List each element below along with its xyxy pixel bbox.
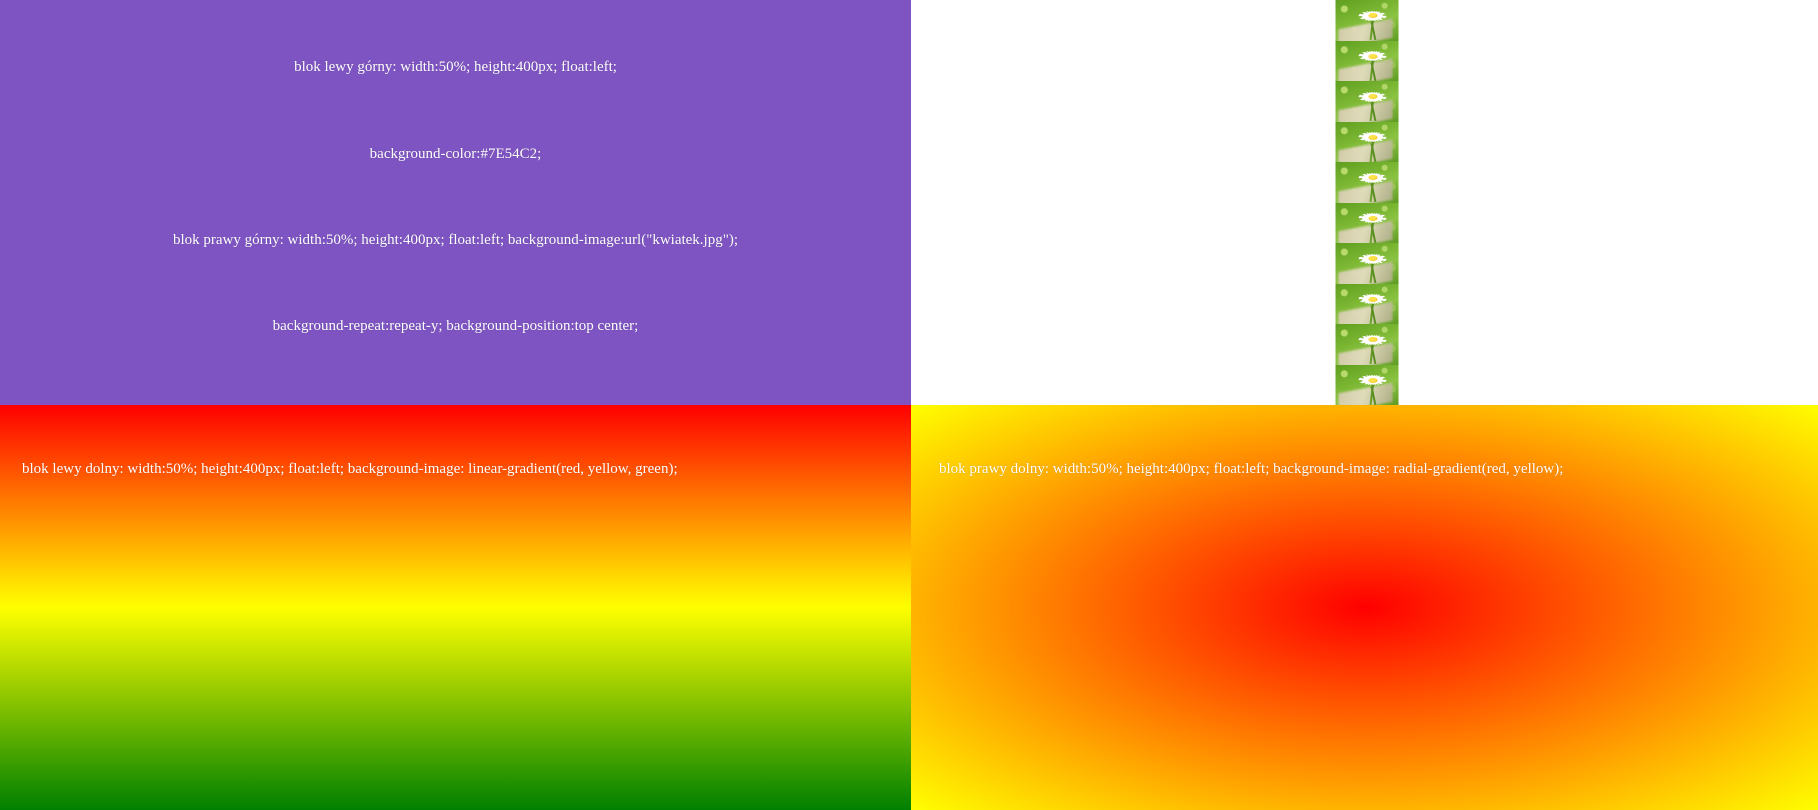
blok-prawy-gorny-line-1: blok prawy górny: width:50%; height:400p…: [0, 231, 911, 249]
flower-icon: [1335, 203, 1398, 244]
flower-icon: [1335, 365, 1398, 406]
blok-lewy-gorny-line-2: background-color:#7E54C2;: [0, 145, 911, 163]
blok-prawy-gorny: [911, 0, 1818, 405]
daisy-center: [1368, 135, 1377, 140]
daisy-head: [1358, 252, 1388, 266]
blok-prawy-dolny: blok prawy dolny: width:50%; height:400p…: [911, 405, 1818, 810]
daisy-head: [1358, 90, 1388, 104]
daisy-head: [1358, 211, 1388, 225]
flower-icon: [1335, 122, 1398, 163]
daisy-center: [1368, 54, 1377, 59]
daisy-head: [1358, 171, 1388, 185]
daisy-center: [1368, 216, 1377, 221]
flower-icon: [1335, 162, 1398, 203]
daisy-head: [1358, 49, 1388, 63]
flower-icon: [1335, 81, 1398, 122]
daisy-head: [1358, 333, 1388, 347]
blok-lewy-dolny: blok lewy dolny: width:50%; height:400px…: [0, 405, 911, 810]
daisy-head: [1358, 373, 1388, 387]
daisy-center: [1368, 297, 1377, 302]
flower-icon: [1335, 324, 1398, 365]
flower-background-strip: [1335, 0, 1398, 405]
blok-prawy-dolny-line-1: blok prawy dolny: width:50%; height:400p…: [911, 460, 1818, 478]
daisy-head: [1358, 9, 1388, 23]
flower-icon: [1335, 284, 1398, 325]
blok-lewy-gorny: blok lewy górny: width:50%; height:400px…: [0, 0, 911, 405]
blok-prawy-gorny-line-2: background-repeat:repeat-y; background-p…: [0, 317, 911, 335]
flower-icon: [1335, 243, 1398, 284]
flower-icon: [1335, 0, 1398, 41]
flower-icon: [1335, 41, 1398, 82]
blok-lewy-dolny-line-1: blok lewy dolny: width:50%; height:400px…: [0, 460, 911, 478]
daisy-head: [1358, 292, 1388, 306]
blok-lewy-gorny-line-1: blok lewy górny: width:50%; height:400px…: [0, 58, 911, 76]
daisy-head: [1358, 130, 1388, 144]
page-root: blok lewy górny: width:50%; height:400px…: [0, 0, 1818, 810]
daisy-center: [1368, 378, 1377, 383]
